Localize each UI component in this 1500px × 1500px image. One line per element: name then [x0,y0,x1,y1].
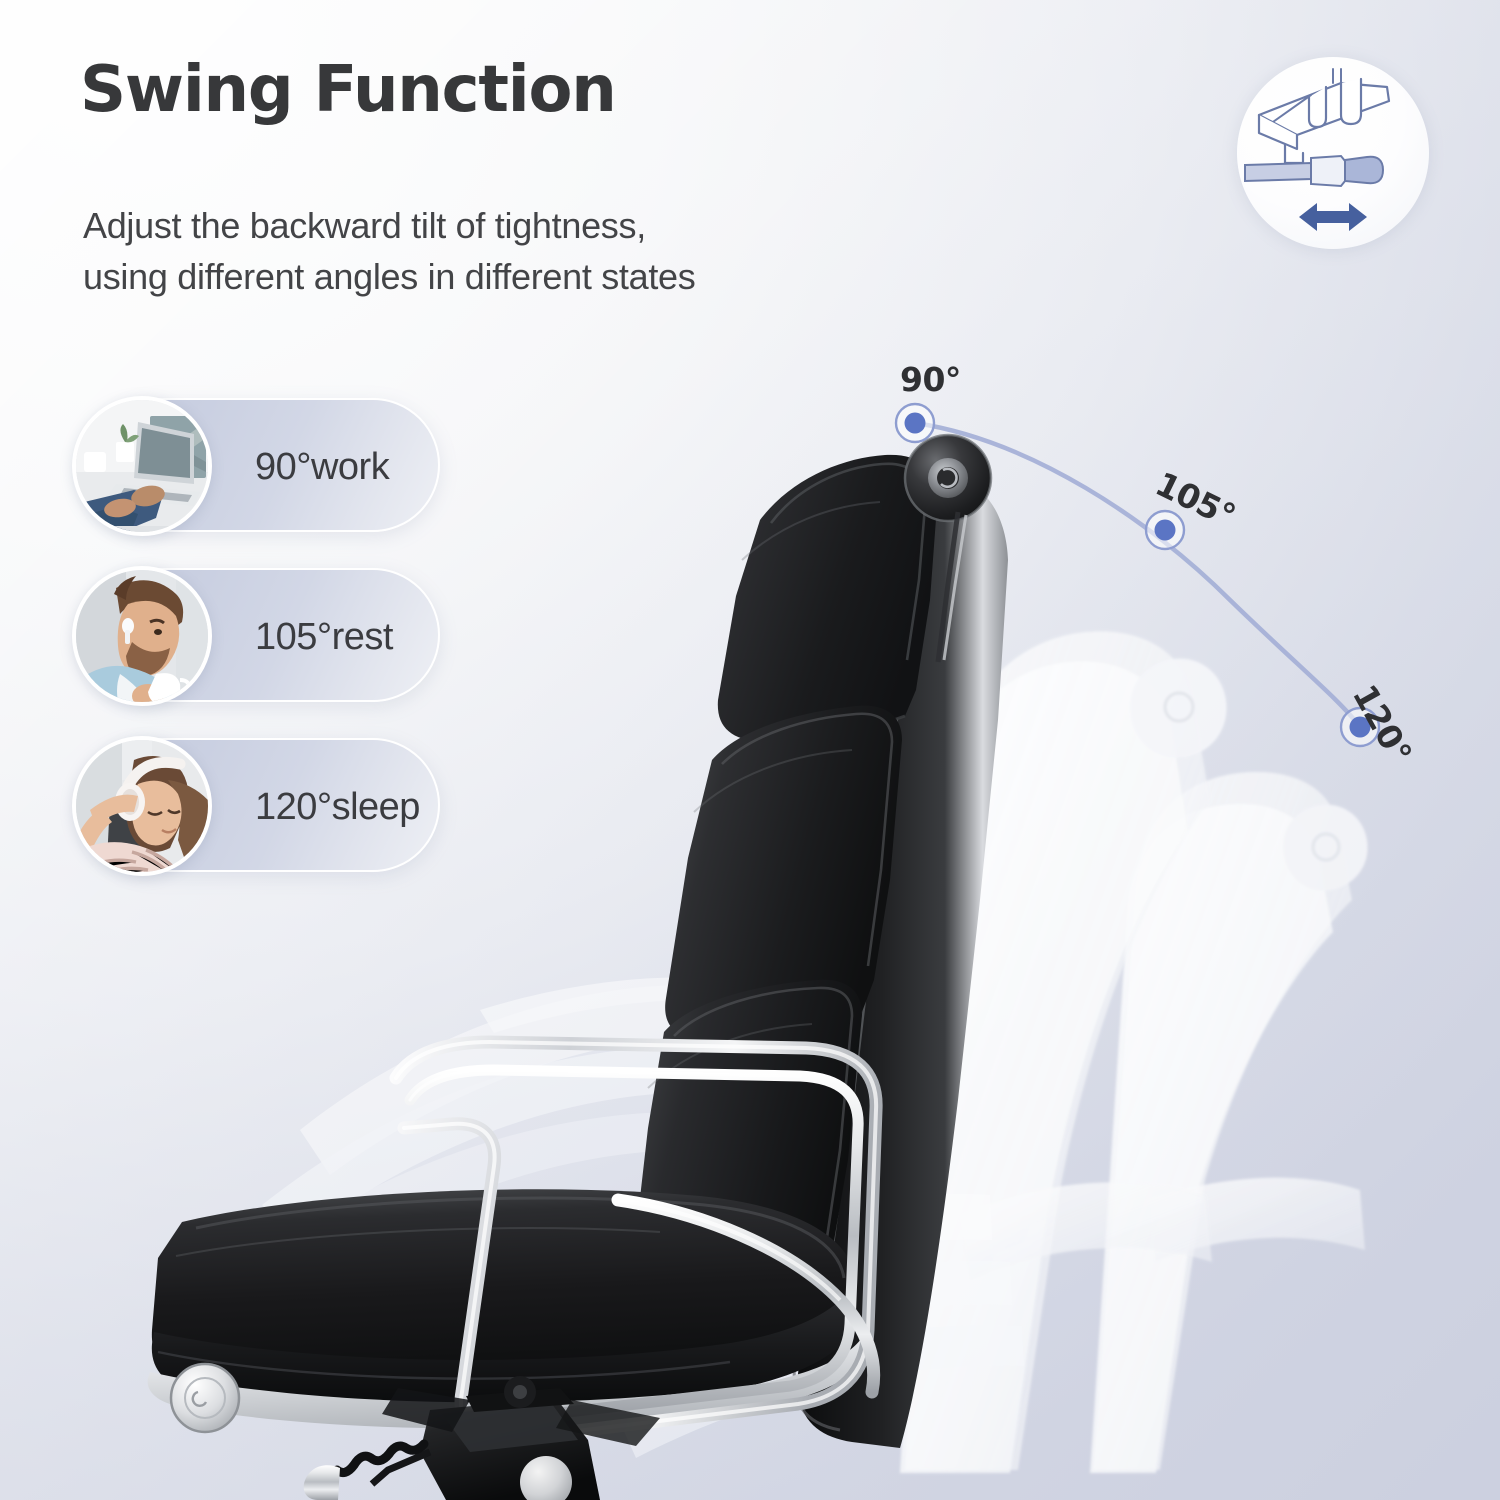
mode-photo-rest [72,566,212,706]
seat-front-caster [171,1364,239,1432]
mode-label-work: 90°work [255,400,389,534]
mode-photo-sleep [72,736,212,876]
mode-label-rest: 105°rest [255,570,393,704]
feature-badge [1237,57,1429,249]
mode-photo-work [72,396,212,536]
double-arrow-icon [1299,203,1367,231]
backrest-cushion-top [718,455,938,742]
tilt-lever [1245,156,1383,186]
tilt-mechanism-icon [1237,57,1429,249]
mode-pill-work[interactable]: 90°work [88,398,440,532]
mode-pill-sleep[interactable]: 120°sleep [88,738,440,872]
mode-pill-rest[interactable]: 105°rest [88,568,440,702]
angle-label-90: 90° [900,360,961,399]
page-title: Swing Function [80,58,616,122]
infographic-canvas: Swing Function Adjust the backward tilt … [0,0,1500,1500]
mode-label-sleep: 120°sleep [255,740,420,874]
page-subtitle: Adjust the backward tilt of tightness, u… [83,200,695,302]
